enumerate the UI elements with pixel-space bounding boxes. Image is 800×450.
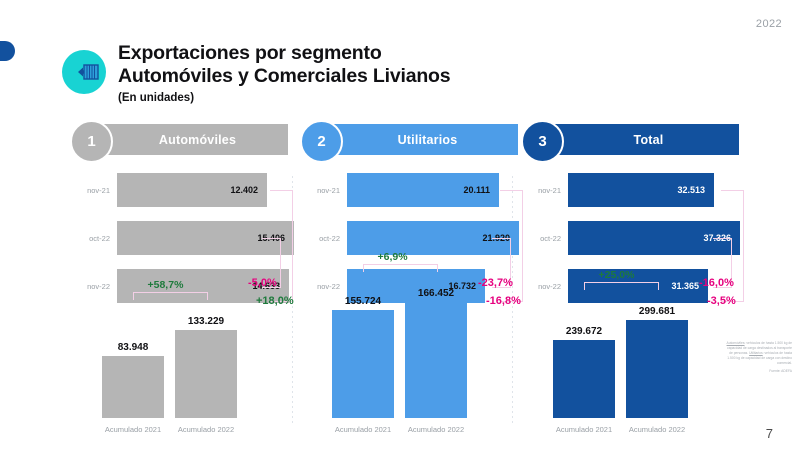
delta-label-outer: +18,0% — [256, 295, 294, 307]
column-delta-label: +25,0% — [599, 269, 635, 281]
column-delta-label: +6,9% — [378, 251, 408, 263]
column-bar — [405, 302, 467, 418]
column-value-label: 155.724 — [332, 296, 394, 307]
column-group: 83.948Acumulado 2021 — [102, 342, 164, 418]
panel-title-bar: Utilitarios — [323, 124, 518, 155]
page-title-line2: Automóviles y Comerciales Livianos — [118, 65, 450, 88]
bar-row: oct-2215.406 — [70, 221, 294, 255]
bar-row: oct-2237.326 — [521, 221, 740, 255]
column-category-label: Acumulado 2022 — [387, 425, 485, 434]
column-category-label: Acumulado 2022 — [608, 425, 706, 434]
monthly-bar-chart: nov-2120.111oct-2221.920nov-2216.732-23,… — [300, 173, 532, 303]
column-group: 299.681Acumulado 2022 — [626, 306, 688, 418]
footnote-term-1: Automóviles — [727, 341, 745, 345]
panel-step-number: 2 — [300, 120, 343, 163]
bar-category-label: nov-21 — [521, 186, 568, 195]
panel-step-number: 3 — [521, 120, 564, 163]
delta-label-outer: -3,5% — [707, 295, 736, 307]
column-group: 166.452Acumulado 2022 — [405, 288, 467, 418]
bar-category-label: nov-22 — [300, 282, 347, 291]
column-delta-bracket — [133, 292, 208, 300]
panel-step-number: 1 — [70, 120, 113, 163]
bar-row: oct-2221.920 — [300, 221, 519, 255]
column-value-label: 299.681 — [626, 306, 688, 317]
column-bar — [553, 340, 615, 418]
panel-title-label: Total — [620, 133, 664, 147]
panel-header-automóviles: Automóviles1 — [70, 124, 302, 155]
panel-total: Total3nov-2132.513oct-2237.326nov-2231.3… — [521, 124, 753, 436]
panel-automoviles: Automóviles1nov-2112.402oct-2215.406nov-… — [70, 124, 302, 436]
column-category-label: Acumulado 2022 — [157, 425, 255, 434]
delta-label-outer: -16,8% — [486, 295, 521, 307]
slide-canvas: 2022 7 Exportaciones por segmento Automó… — [0, 0, 800, 450]
panel-utilitarios: Utilitarios2nov-2120.111oct-2221.920nov-… — [300, 124, 532, 436]
panel-title-bar: Automóviles — [93, 124, 288, 155]
accumulated-column-chart: 155.724Acumulado 2021166.452Acumulado 20… — [300, 308, 532, 436]
bar: 32.513 — [568, 173, 714, 207]
bar-row: nov-2120.111 — [300, 173, 499, 207]
column-group: 239.672Acumulado 2021 — [553, 326, 615, 418]
footnote-term-2: Utilitarios — [749, 351, 763, 355]
column-delta-bracket — [363, 264, 438, 272]
column-bar — [332, 310, 394, 418]
column-bar — [102, 356, 164, 418]
page-number: 7 — [766, 426, 773, 441]
bar-row: nov-2132.513 — [521, 173, 714, 207]
column-value-label: 133.229 — [175, 316, 237, 327]
panel-title-label: Utilitarios — [384, 133, 458, 147]
bar-value-label: 12.402 — [230, 185, 267, 195]
column-delta-label: +58,7% — [148, 279, 184, 291]
column-bar — [626, 320, 688, 418]
panel-title-label: Automóviles — [145, 133, 236, 147]
panel-title-bar: Total — [544, 124, 739, 155]
footnote: Automóviles: vehículos de hasta 1.500 kg… — [724, 341, 792, 374]
page-title-line1: Exportaciones por segmento — [118, 42, 450, 65]
bar-category-label: oct-22 — [521, 234, 568, 243]
panel-header-utilitarios: Utilitarios2 — [300, 124, 532, 155]
column-group: 133.229Acumulado 2022 — [175, 316, 237, 418]
ship-container-export-icon — [62, 50, 106, 94]
year-label: 2022 — [756, 18, 782, 30]
bar-value-label: 32.513 — [677, 185, 714, 195]
accumulated-column-chart: 239.672Acumulado 2021299.681Acumulado 20… — [521, 308, 753, 436]
delta-label-inner: -5,0% — [248, 277, 277, 289]
panel-header-total: Total3 — [521, 124, 753, 155]
slide-header: Exportaciones por segmento Automóviles y… — [62, 42, 450, 104]
bar: 20.111 — [347, 173, 499, 207]
column-value-label: 83.948 — [102, 342, 164, 353]
footnote-source: Fuente: ADEFA — [724, 369, 792, 374]
page-subtitle: (En unidades) — [118, 92, 450, 104]
delta-label-inner: -16,0% — [699, 277, 734, 289]
bar-value-label: 20.111 — [463, 185, 499, 195]
bar-category-label: nov-21 — [300, 186, 347, 195]
column-bar — [175, 330, 237, 418]
left-edge-decoration — [0, 41, 15, 61]
column-value-label: 239.672 — [553, 326, 615, 337]
bar: 12.402 — [117, 173, 267, 207]
bar-category-label: nov-22 — [521, 282, 568, 291]
bar-category-label: nov-21 — [70, 186, 117, 195]
bar-category-label: oct-22 — [70, 234, 117, 243]
column-value-label: 166.452 — [405, 288, 467, 299]
bar-row: nov-2112.402 — [70, 173, 267, 207]
column-delta-bracket — [584, 282, 659, 290]
delta-label-inner: -23,7% — [478, 277, 513, 289]
accumulated-column-chart: 83.948Acumulado 2021133.229Acumulado 202… — [70, 308, 302, 436]
monthly-bar-chart: nov-2112.402oct-2215.406nov-2214.633-5,0… — [70, 173, 302, 303]
column-group: 155.724Acumulado 2021 — [332, 296, 394, 418]
bar-category-label: nov-22 — [70, 282, 117, 291]
bar-category-label: oct-22 — [300, 234, 347, 243]
